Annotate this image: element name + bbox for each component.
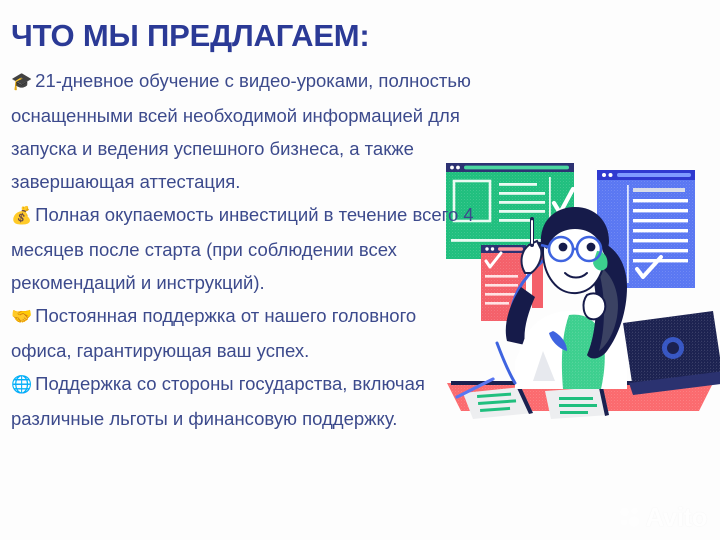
list-item: 💰Полная окупаемость инвестиций в течение… — [11, 198, 481, 299]
avito-wordmark: Avito — [645, 504, 707, 530]
handshake-icon: 🤝 — [11, 307, 32, 327]
list-item: 🎓21-дневное обучение с видео-уроками, по… — [11, 64, 481, 198]
advert-image: ЧТО МЫ ПРЕДЛАГАЕМ: 🎓21-дневное обучение … — [0, 0, 720, 540]
globe-icon: 🌐 — [11, 375, 32, 395]
avito-watermark: Avito — [619, 504, 707, 530]
list-item-text: Постоянная поддержка от нашего головного… — [11, 305, 416, 361]
graduation-cap-icon: 🎓 — [11, 72, 32, 92]
page-title: ЧТО МЫ ПРЕДЛАГАЕМ: — [11, 18, 370, 54]
list-item-text: Поддержка со стороны государства, включа… — [11, 373, 425, 429]
list-item: 🤝Постоянная поддержка от нашего головног… — [11, 299, 481, 367]
list-item-text: Полная окупаемость инвестиций в течение … — [11, 204, 474, 293]
list-item-text: 21-дневное обучение с видео-уроками, пол… — [11, 70, 471, 192]
money-bag-icon: 💰 — [11, 206, 32, 226]
text-content: ЧТО МЫ ПРЕДЛАГАЕМ: 🎓21-дневное обучение … — [0, 0, 720, 540]
offer-bullet-list: 🎓21-дневное обучение с видео-уроками, по… — [11, 64, 481, 435]
avito-logo-icon — [619, 506, 641, 528]
list-item: 🌐Поддержка со стороны государства, включ… — [11, 367, 481, 435]
